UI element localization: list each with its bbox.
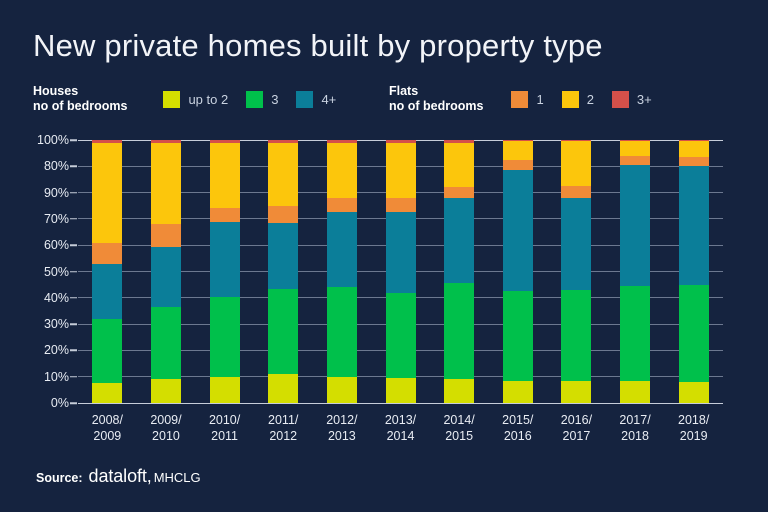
bar-stack[interactable] <box>151 140 181 403</box>
bar-segment[interactable] <box>210 143 240 209</box>
y-axis-tick-mark <box>70 166 77 168</box>
bar-segment[interactable] <box>620 156 650 165</box>
bar-segment[interactable] <box>92 243 122 264</box>
bar-segment[interactable] <box>503 170 533 291</box>
legend-label-4-plus: 4+ <box>321 92 336 107</box>
bar-segment[interactable] <box>151 307 181 379</box>
bar-stack[interactable] <box>268 140 298 403</box>
legend-item-flat-1[interactable]: 1 <box>511 91 543 108</box>
legend-label-flat-1: 1 <box>536 92 543 107</box>
legend-swatch-4-plus <box>296 91 313 108</box>
bar-segment[interactable] <box>561 381 591 403</box>
legend-swatch-flat-1 <box>511 91 528 108</box>
x-axis-tick-label: 2018/2019 <box>656 412 732 444</box>
legend-flats-heading: Flats no of bedrooms <box>389 84 483 114</box>
legend-swatch-up-to-2 <box>163 91 180 108</box>
bar-stack[interactable] <box>386 140 416 403</box>
y-axis-tick-label: 10% <box>44 370 69 384</box>
bar-segment[interactable] <box>210 377 240 403</box>
y-axis-tick-mark <box>70 297 77 299</box>
bar-segment[interactable] <box>386 293 416 378</box>
bar-segment[interactable] <box>327 287 357 376</box>
y-axis-tick-label: 0% <box>51 396 69 410</box>
bar-stack[interactable] <box>561 140 591 403</box>
bar-segment[interactable] <box>327 377 357 403</box>
bar-segment[interactable] <box>679 141 709 157</box>
bar-segment[interactable] <box>268 223 298 289</box>
source-brand: dataloft, <box>89 466 152 487</box>
legend-swatch-3 <box>246 91 263 108</box>
legend-swatch-flat-3-plus <box>612 91 629 108</box>
bar-segment[interactable] <box>386 378 416 403</box>
bar-stack[interactable] <box>327 140 357 403</box>
bar-segment[interactable] <box>268 206 298 223</box>
legend-label-3: 3 <box>271 92 278 107</box>
bar-segment[interactable] <box>679 285 709 382</box>
bar-segment[interactable] <box>503 381 533 403</box>
bar-segment[interactable] <box>444 187 474 198</box>
legend-item-flat-3-plus[interactable]: 3+ <box>612 91 652 108</box>
bar-segment[interactable] <box>444 283 474 379</box>
bar-segment[interactable] <box>620 381 650 403</box>
y-axis-tick-label: 100% <box>37 133 69 147</box>
legend-houses-heading: Houses no of bedrooms <box>33 84 127 114</box>
legend-flats-heading-line1: Flats <box>389 84 483 99</box>
bar-segment[interactable] <box>620 286 650 381</box>
bar-segment[interactable] <box>92 383 122 403</box>
legend-label-flat-2: 2 <box>587 92 594 107</box>
bar-segment[interactable] <box>444 379 474 403</box>
legend-swatch-flat-2 <box>562 91 579 108</box>
bar-segment[interactable] <box>268 289 298 374</box>
bar-segment[interactable] <box>503 141 533 159</box>
legend-flats: Flats no of bedrooms 1 2 3+ <box>389 84 670 114</box>
y-axis-tick-mark <box>70 244 77 246</box>
legend-houses-heading-line2: no of bedrooms <box>33 99 127 114</box>
bar-stack[interactable] <box>503 140 533 403</box>
bar-segment[interactable] <box>561 186 591 198</box>
bar-segment[interactable] <box>151 224 181 246</box>
bar-segment[interactable] <box>386 198 416 212</box>
page-title: New private homes built by property type <box>33 28 603 64</box>
legend-item-flat-2[interactable]: 2 <box>562 91 594 108</box>
legend-flats-items: 1 2 3+ <box>511 91 669 108</box>
y-axis-tick-label: 70% <box>44 212 69 226</box>
bar-stack[interactable] <box>444 140 474 403</box>
bar-segment[interactable] <box>327 143 357 198</box>
y-axis-tick-mark <box>70 350 77 352</box>
legend-item-4-plus[interactable]: 4+ <box>296 91 336 108</box>
bar-segment[interactable] <box>92 264 122 319</box>
source-label: Source: <box>36 471 83 485</box>
y-axis-tick-mark <box>70 218 77 220</box>
bar-segment[interactable] <box>679 166 709 284</box>
bar-segment[interactable] <box>268 374 298 403</box>
y-axis-tick-label: 20% <box>44 343 69 357</box>
bar-segment[interactable] <box>210 208 240 221</box>
legend-item-up-to-2[interactable]: up to 2 <box>163 91 228 108</box>
bar-segment[interactable] <box>92 319 122 383</box>
bar-segment[interactable] <box>561 198 591 290</box>
source-rest: MHCLG <box>154 470 201 485</box>
bar-stack[interactable] <box>210 140 240 403</box>
bar-segment[interactable] <box>620 141 650 155</box>
y-axis-tick-label: 90% <box>44 186 69 200</box>
y-axis-tick-mark <box>70 323 77 325</box>
bar-segment[interactable] <box>444 198 474 283</box>
legend-houses-heading-line1: Houses <box>33 84 127 99</box>
bar-segment[interactable] <box>151 143 181 225</box>
bar-segment[interactable] <box>561 290 591 381</box>
y-axis-tick-mark <box>70 139 77 141</box>
y-axis-tick-mark <box>70 192 77 194</box>
bar-segment[interactable] <box>268 143 298 206</box>
bar-segment[interactable] <box>444 143 474 188</box>
y-axis-tick-label: 60% <box>44 238 69 252</box>
y-axis-tick-label: 30% <box>44 317 69 331</box>
legend-houses-items: up to 2 3 4+ <box>163 91 354 108</box>
y-axis-tick-mark <box>70 271 77 273</box>
bar-stack[interactable] <box>92 140 122 403</box>
chart-container: New private homes built by property type… <box>0 0 768 512</box>
y-axis-tick-label: 50% <box>44 265 69 279</box>
legend-label-flat-3-plus: 3+ <box>637 92 652 107</box>
bar-segment[interactable] <box>327 198 357 212</box>
legend-item-3[interactable]: 3 <box>246 91 278 108</box>
bar-segment[interactable] <box>151 379 181 403</box>
bar-segment[interactable] <box>620 165 650 286</box>
y-axis-tick-label: 40% <box>44 291 69 305</box>
bar-segment[interactable] <box>679 157 709 166</box>
bar-segment[interactable] <box>92 143 122 243</box>
legend-flats-heading-line2: no of bedrooms <box>389 99 483 114</box>
plot-area: 0%10%20%30%40%50%60%70%90%80%100%2008/20… <box>78 140 723 403</box>
y-axis-tick-mark <box>70 376 77 378</box>
bar-segment[interactable] <box>327 212 357 287</box>
legend-houses: Houses no of bedrooms up to 2 3 4+ <box>33 84 354 114</box>
bar-segment[interactable] <box>386 212 416 292</box>
bar-segment[interactable] <box>503 160 533 171</box>
bar-segment[interactable] <box>503 291 533 380</box>
bar-stack[interactable] <box>679 140 709 403</box>
y-axis-tick-mark <box>70 402 77 404</box>
source-note: Source: dataloft, MHCLG <box>36 466 201 487</box>
bar-segment[interactable] <box>679 382 709 403</box>
bar-segment[interactable] <box>210 297 240 377</box>
bar-segment[interactable] <box>386 143 416 198</box>
bar-segment[interactable] <box>561 141 591 186</box>
bar-segment[interactable] <box>151 247 181 307</box>
bar-segment[interactable] <box>210 222 240 297</box>
bar-stack[interactable] <box>620 140 650 403</box>
y-axis-tick-label: 80% <box>44 159 69 173</box>
legend-label-up-to-2: up to 2 <box>188 92 228 107</box>
